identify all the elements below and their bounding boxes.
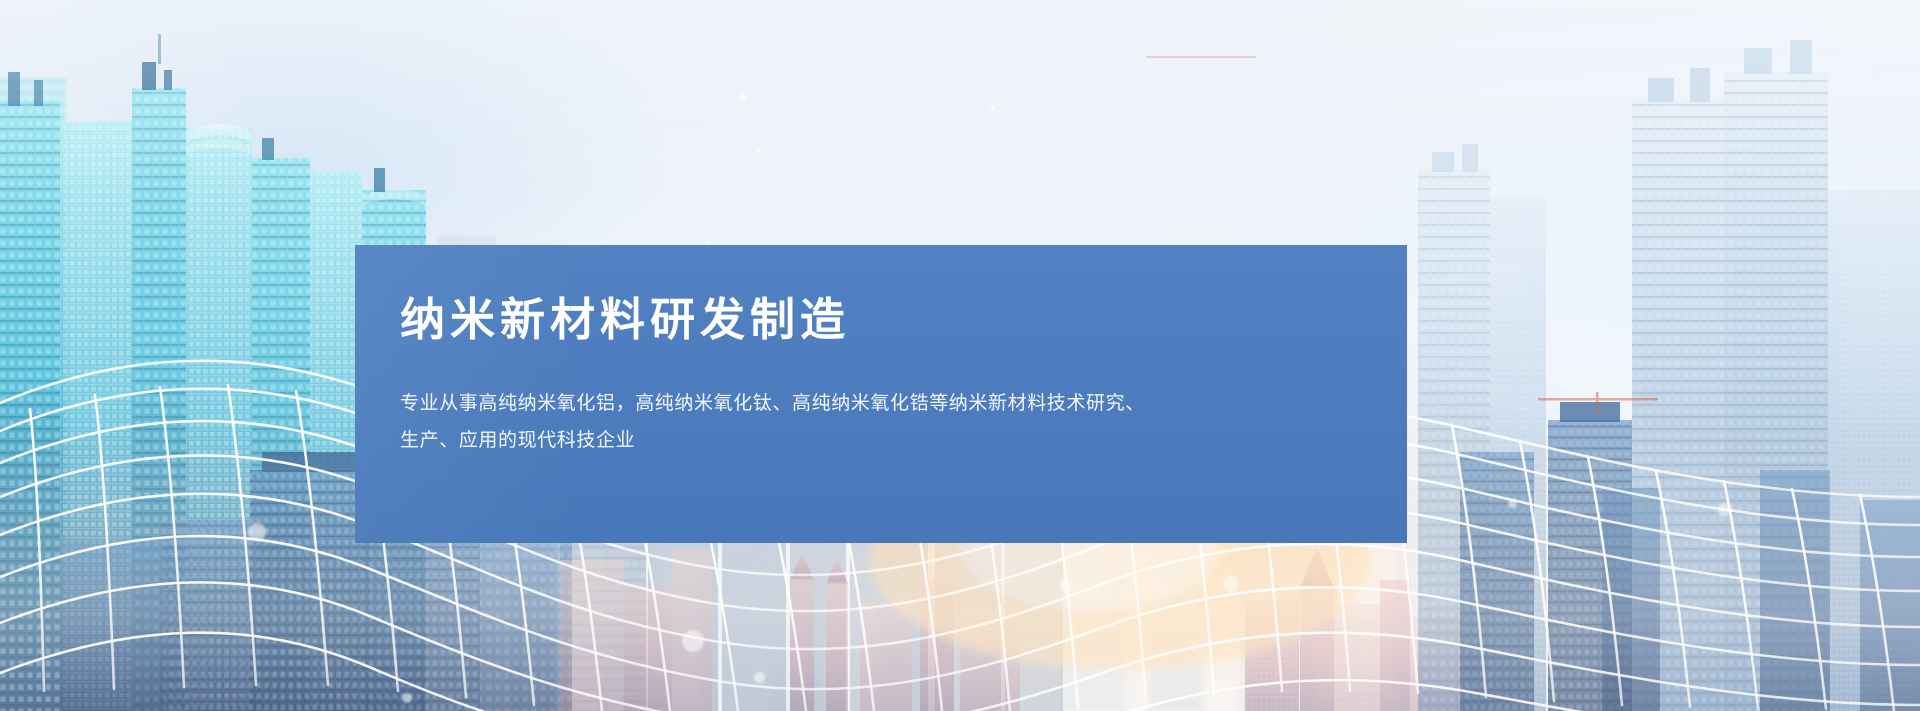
hero-banner: 纳米新材料研发制造 专业从事高纯纳米氧化铝，高纯纳米氧化钛、高纯纳米氧化锆等纳米…	[0, 0, 1920, 711]
hero-text-panel: 纳米新材料研发制造 专业从事高纯纳米氧化铝，高纯纳米氧化钛、高纯纳米氧化锆等纳米…	[355, 245, 1407, 543]
hero-subtitle-line-1: 专业从事高纯纳米氧化铝，高纯纳米氧化钛、高纯纳米氧化锆等纳米新材料技术研究、	[400, 385, 1200, 422]
hero-subtitle-line-2: 生产、应用的现代科技企业	[400, 422, 1200, 459]
hero-subtitle: 专业从事高纯纳米氧化铝，高纯纳米氧化钛、高纯纳米氧化锆等纳米新材料技术研究、 生…	[400, 385, 1200, 459]
page-title: 纳米新材料研发制造	[400, 293, 1407, 346]
